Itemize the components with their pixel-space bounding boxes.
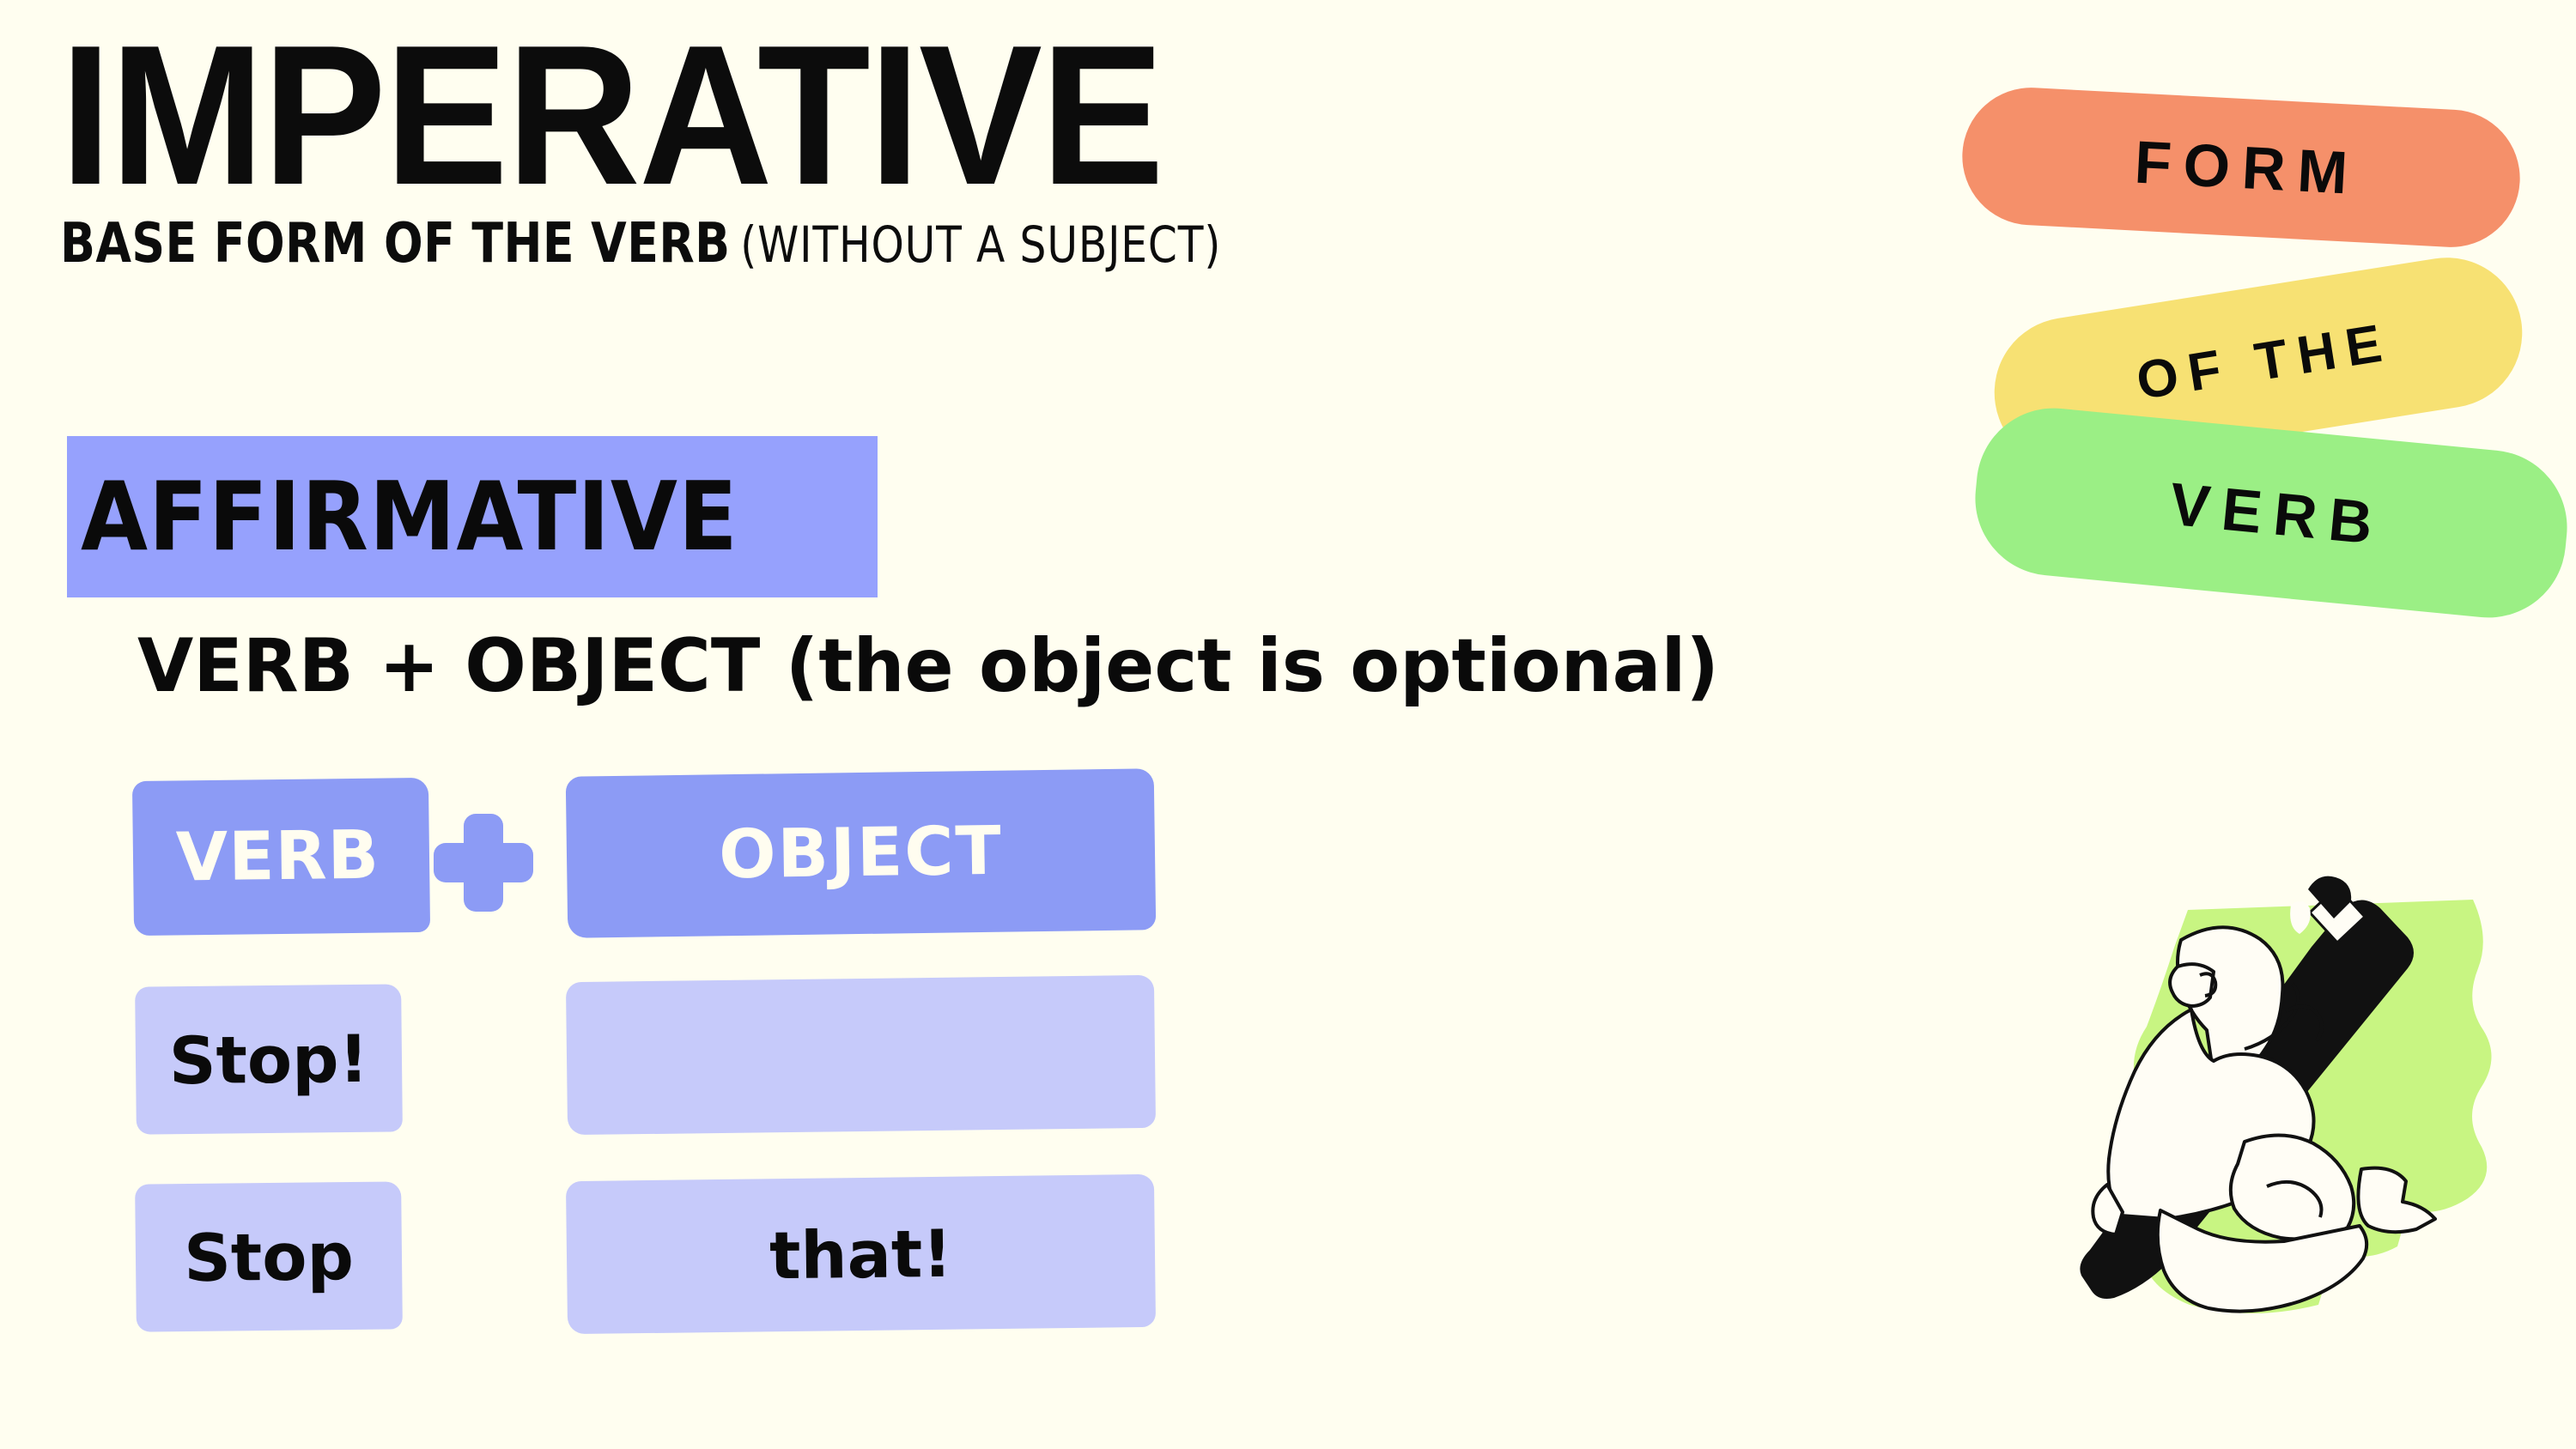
table-header-object: OBJECT (566, 768, 1157, 938)
subtitle-main-text: BASE FORM OF THE VERB (60, 212, 731, 276)
table-row (566, 975, 1156, 1135)
slide-canvas: IMPERATIVE BASE FORM OF THE VERB (WITHOU… (0, 0, 2576, 1449)
page-title: IMPERATIVE (60, 24, 1657, 207)
badge-form-label: FORM (2121, 127, 2361, 208)
table-cell-verb-2: Stop (184, 1217, 355, 1295)
subtitle-row: BASE FORM OF THE VERB (WITHOUT A SUBJECT… (60, 212, 1503, 276)
table-header-object-label: OBJECT (719, 813, 1004, 894)
affirmative-heading-label: AFFIRMATIVE (81, 461, 738, 572)
table-row: Stop (135, 1181, 403, 1331)
plus-icon-horizontal-bar (434, 843, 533, 882)
person-face (2170, 964, 2214, 1006)
table-cell-verb-1: Stop! (168, 1020, 368, 1098)
subtitle-parenthetical-text: (WITHOUT A SUBJECT) (740, 215, 1221, 274)
table-row: Stop! (135, 984, 403, 1134)
illustration-person-with-pencil (2061, 858, 2576, 1391)
title-block: IMPERATIVE BASE FORM OF THE VERB (WITHOU… (60, 24, 1777, 276)
badge-form: FORM (1959, 84, 2523, 251)
table-row: that! (566, 1174, 1156, 1334)
table-cell-object-2: that! (769, 1215, 953, 1294)
affirmative-section-heading: AFFIRMATIVE (67, 436, 878, 597)
plus-icon (434, 814, 533, 912)
badge-verb: VERB (1968, 401, 2574, 624)
table-header-verb: VERB (132, 778, 430, 936)
badge-of-the-label: OF THE (2121, 312, 2397, 414)
plus-icon-vertical-bar (464, 814, 503, 912)
badge-verb-label: VERB (2155, 468, 2388, 558)
formula-line: VERB + OBJECT (the object is optional) (137, 623, 1719, 709)
table-header-verb-label: VERB (175, 817, 380, 897)
